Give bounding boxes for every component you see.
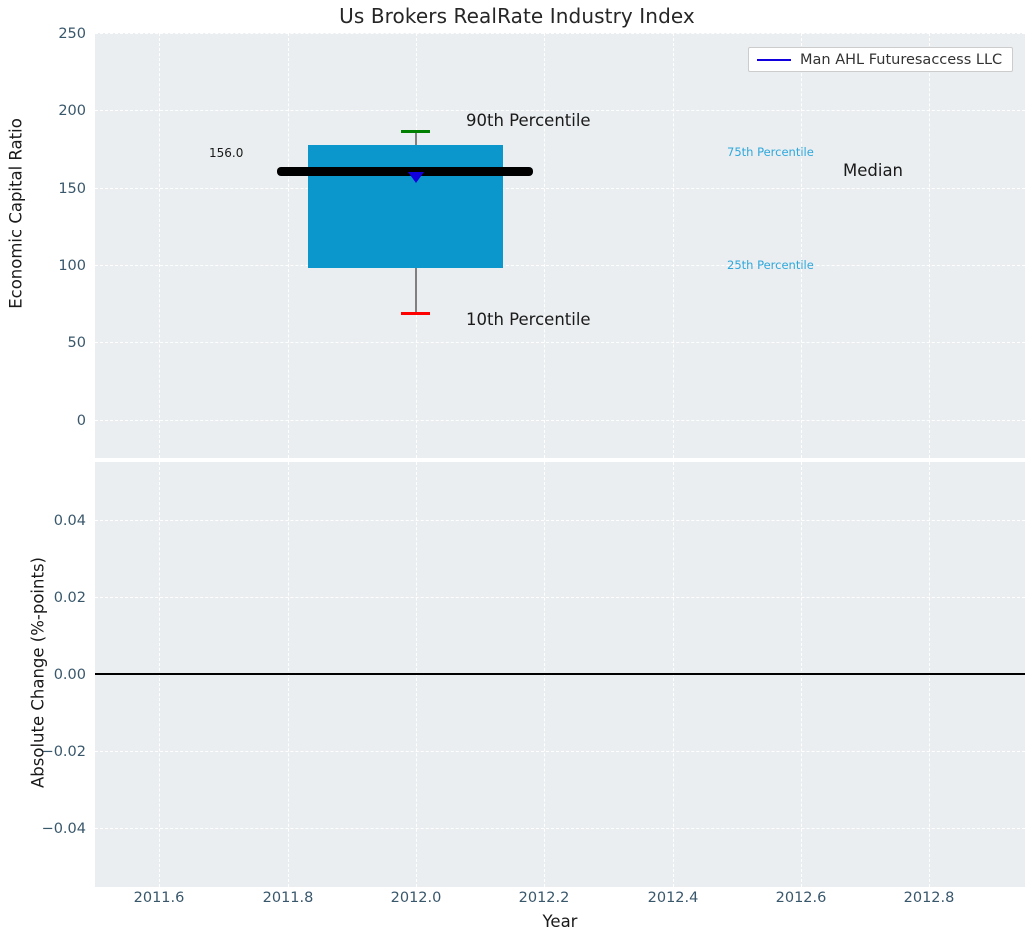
gridline-v-2011.6: [159, 33, 160, 458]
gridline-h--0.02: [95, 751, 1025, 752]
gridline-h-100: [95, 265, 1025, 266]
gridline-v-2012.2: [544, 33, 545, 458]
median-value-label: 156.0: [209, 146, 243, 160]
gridline-h-0.04: [95, 520, 1025, 521]
p90-cap-icon: [401, 130, 430, 133]
xtick-2011.8: 2011.8: [248, 890, 328, 906]
xtick-2012.6: 2012.6: [761, 890, 841, 906]
legend-line-swatch-icon: [757, 59, 791, 61]
gridline-v-2012.6: [801, 33, 802, 458]
gridline-v-2012.4: [673, 33, 674, 458]
xtick-2012.2: 2012.2: [504, 890, 584, 906]
xtick-2012.0: 2012.0: [376, 890, 456, 906]
series-marker-man-ahl[interactable]: [408, 172, 424, 183]
legend-label-man-ahl: Man AHL Futuresaccess LLC: [800, 52, 1002, 68]
iqr-bar: [308, 145, 503, 268]
gridline-h-250: [95, 33, 1025, 34]
bottom-panel-plot-area: [95, 462, 1025, 887]
legend[interactable]: Man AHL Futuresaccess LLC: [748, 47, 1013, 72]
top-panel-plot-area: [95, 33, 1025, 458]
gridline-v-2012.8: [929, 33, 930, 458]
annotation-median: Median: [843, 161, 903, 180]
x-axis-label: Year: [95, 912, 1025, 931]
xtick-2012.4: 2012.4: [633, 890, 713, 906]
chart-figure: Us Brokers RealRate Industry Index: [0, 0, 1034, 942]
gridline-h-150: [95, 188, 1025, 189]
gridline-h--0.04: [95, 828, 1025, 829]
annotation-10th-percentile: 10th Percentile: [466, 310, 591, 329]
p10-cap-icon: [401, 312, 430, 315]
median-line: [277, 167, 533, 176]
gridline-h-0: [95, 420, 1025, 421]
y-axis-label-bottom: Absolute Change (%-points): [29, 513, 48, 833]
gridline-h-50: [95, 342, 1025, 343]
annotation-75th-percentile: 75th Percentile: [727, 145, 814, 159]
xtick-2012.8: 2012.8: [889, 890, 969, 906]
ytick-top-50: 50: [0, 335, 86, 351]
xtick-2011.6: 2011.6: [119, 890, 199, 906]
ytick-top-0: 0: [0, 413, 86, 429]
y-axis-label-top: Economic Capital Ratio: [7, 114, 26, 314]
annotation-25th-percentile: 25th Percentile: [727, 258, 814, 272]
gridline-h-0.02: [95, 597, 1025, 598]
zero-reference-line: [95, 673, 1025, 675]
annotation-90th-percentile: 90th Percentile: [466, 111, 591, 130]
chart-title: Us Brokers RealRate Industry Index: [0, 4, 1034, 28]
ytick-top-250: 250: [0, 26, 86, 42]
gridline-v-2011.8: [288, 33, 289, 458]
